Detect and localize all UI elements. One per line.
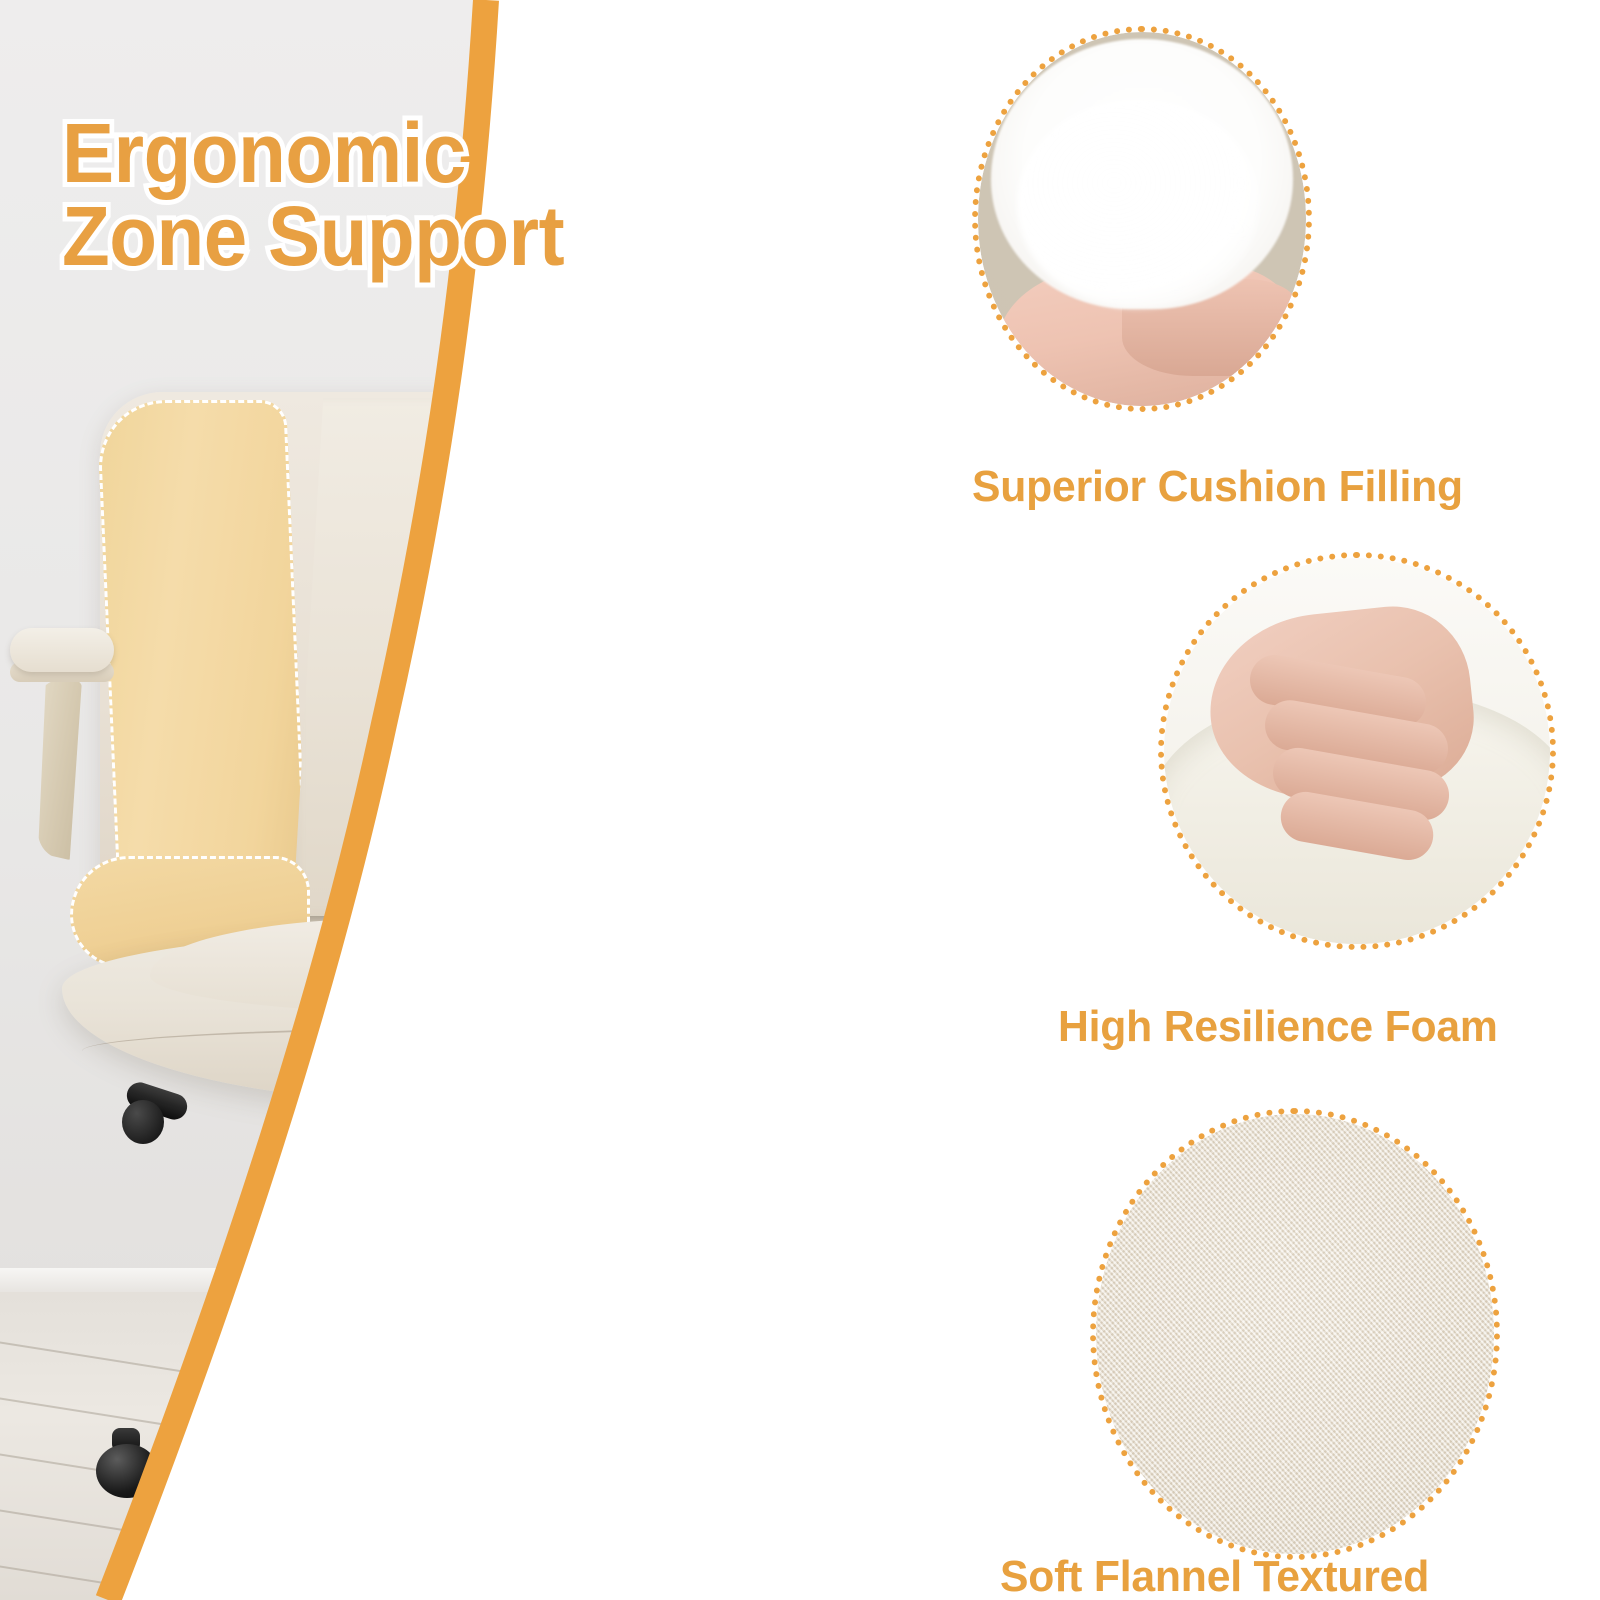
feature-label-flannel-texture: Soft Flannel Textured [1000,1552,1429,1600]
base-leg [445,1225,672,1329]
feature-label-cushion-filling: Superior Cushion Filling [972,462,1463,512]
cylinder-top [446,1088,474,1114]
base-hub [396,1276,524,1350]
chair-seat-seam [82,1028,842,1074]
lumbar-seam [292,916,640,926]
ergonomic-zone-right [616,400,836,948]
base-leg [445,1304,496,1506]
base-leg [176,1298,474,1433]
lumbar-center-panel [292,398,640,926]
headline: Ergonomic Zone Support [62,112,676,278]
resilience-foam-photo [1158,552,1556,950]
headline-line-2: Zone Support [62,195,676,278]
ergonomic-zone-arm-right [640,856,872,968]
gas-cylinder [432,1100,488,1310]
tilt-lever-knob [122,1100,164,1144]
base-leg [257,1235,482,1338]
caster-wheel [640,1296,686,1348]
caster-wheel [786,1424,848,1494]
chair-seat-top [150,918,770,1014]
infographic-canvas: Ergonomic Zone Support Superior Cushion … [0,0,1600,1600]
flannel-texture-photo [1090,1108,1500,1560]
base-leg [445,1297,735,1439]
feature-label-resilience-foam: High Resilience Foam [1058,1002,1498,1052]
caster-wheel [244,1300,290,1352]
headline-line-1: Ergonomic [62,112,676,195]
cylinder-collar [424,1148,496,1200]
cushion-filling-photo [972,26,1312,412]
caster-wheel [430,1490,492,1560]
caster-wheel [96,1428,158,1498]
